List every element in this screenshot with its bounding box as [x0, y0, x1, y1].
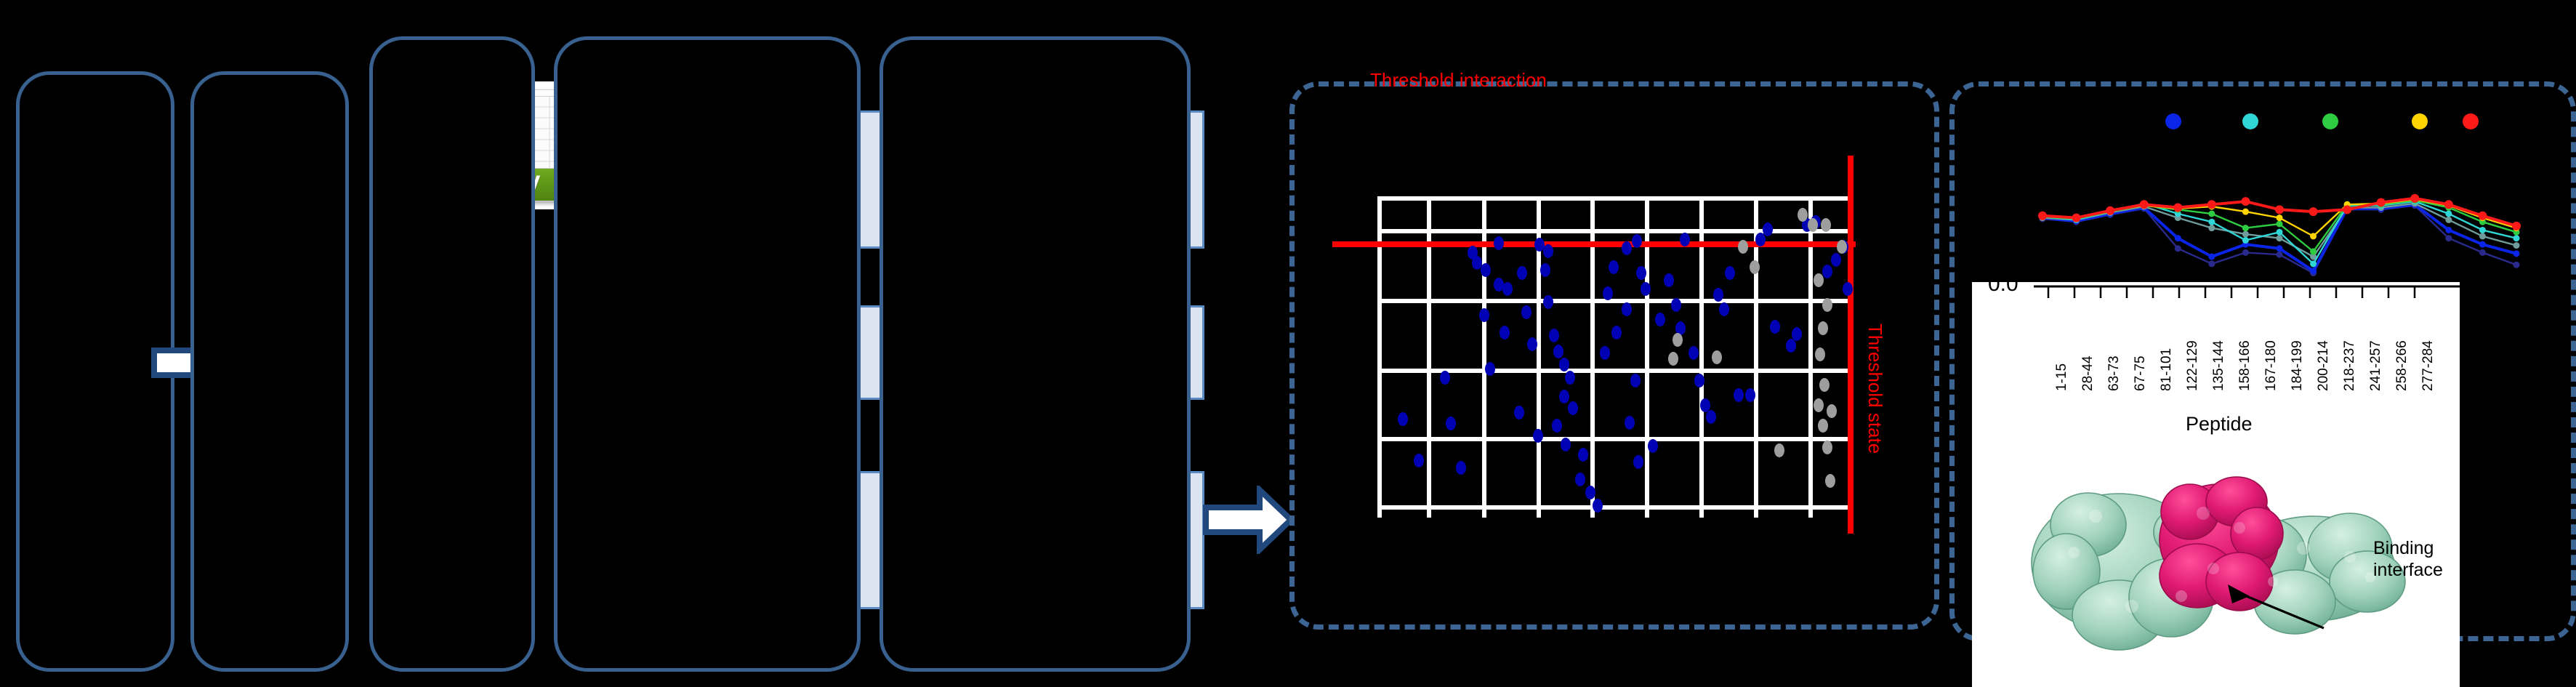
scatter-point-ns — [1827, 404, 1837, 418]
line-marker — [2513, 250, 2520, 257]
scatter-point — [1561, 438, 1571, 451]
line-marker — [2038, 212, 2047, 220]
statistical-analysis-stage[interactable] — [369, 36, 535, 672]
structural-mapping-stage[interactable] — [880, 36, 1191, 672]
x-tick-label: 241-257 — [2368, 340, 2384, 391]
legend-dot-yellow — [2412, 113, 2428, 129]
x-tick-label: 218-237 — [2342, 340, 2358, 391]
protein-structure-image — [2010, 446, 2417, 664]
line-marker — [2310, 268, 2317, 274]
binding-interface-line1: Binding — [2373, 538, 2443, 560]
grid-h-3 — [1377, 299, 1853, 303]
scatter-point — [1527, 337, 1537, 351]
scatter-point — [1770, 320, 1780, 334]
scatter-point-ns — [1821, 218, 1831, 232]
line-marker — [2208, 219, 2215, 225]
scatter-point — [1568, 401, 1578, 415]
scatter-point-ns — [1837, 240, 1847, 254]
legend-dot-green — [2322, 113, 2338, 129]
line-marker — [2207, 200, 2216, 209]
line-marker — [2310, 260, 2317, 267]
scatter-point — [1843, 282, 1853, 296]
scatter-point-ns — [1814, 273, 1824, 287]
line-marker — [2444, 200, 2453, 209]
scatter-point — [1494, 236, 1504, 250]
scatter-point — [1446, 417, 1456, 430]
line-marker — [2512, 222, 2521, 230]
binding-interface-line2: interface — [2373, 560, 2443, 582]
scatter-point — [1689, 346, 1699, 360]
x-axis-title: Peptide — [2186, 413, 2253, 435]
x-tick-label: 258-266 — [2394, 340, 2410, 391]
x-tick-label: 122-129 — [2185, 340, 2201, 391]
scatter-point-ns — [1808, 218, 1818, 232]
x-tick-label: 158-166 — [2237, 340, 2253, 391]
scatter-point — [1734, 388, 1744, 402]
grid-h-5 — [1377, 437, 1853, 441]
scatter-point — [1500, 326, 1510, 340]
scatter-point — [1648, 439, 1658, 453]
scatter-point — [1517, 266, 1527, 280]
scatter-point — [1533, 429, 1543, 443]
x-tick-label: 81-101 — [2159, 348, 2175, 391]
scatter-point-ns — [1712, 350, 1722, 364]
scatter-point — [1763, 222, 1773, 236]
line-marker — [2242, 237, 2249, 244]
scatter-point — [1600, 346, 1610, 360]
line-marker — [2175, 235, 2181, 241]
line-marker — [2277, 221, 2283, 228]
line-marker — [2513, 235, 2520, 241]
scatter-point — [1655, 313, 1665, 326]
scatter-point-ns — [1825, 474, 1835, 488]
x-tick-label: 277-284 — [2420, 340, 2436, 391]
scatter-point — [1543, 244, 1553, 258]
scatter-point — [1609, 260, 1619, 274]
line-marker — [2277, 235, 2283, 241]
scatter-point — [1611, 326, 1622, 340]
scatter-point — [1540, 263, 1550, 277]
scatter-point — [1543, 295, 1553, 309]
line-marker — [2277, 252, 2283, 258]
grid-h-2 — [1377, 229, 1853, 233]
line-marker — [2208, 254, 2215, 260]
scatter-point — [1725, 266, 1735, 280]
line-marker — [2309, 207, 2318, 216]
scatter-point — [1625, 416, 1635, 430]
line-marker — [2479, 249, 2486, 256]
scatter-point — [1398, 412, 1408, 426]
line-marker — [2242, 225, 2249, 231]
csv-file-stage[interactable] — [190, 71, 349, 672]
line-marker — [2208, 210, 2215, 217]
line-marker — [2175, 245, 2181, 252]
scatter-point — [1622, 302, 1632, 316]
line-marker — [2310, 233, 2317, 239]
scatter-point-ns — [1814, 398, 1824, 412]
flowchart-canvas: X CSV Fit a linear mixed- effects model … — [0, 0, 2576, 687]
scatter-point — [1713, 288, 1723, 302]
scatter-point — [1502, 282, 1513, 296]
scatter-point — [1479, 308, 1489, 322]
scatter-point — [1632, 234, 1642, 248]
scatter-point — [1831, 253, 1841, 267]
scatter-point-ns — [1668, 352, 1678, 366]
threshold-interaction-label: Threshold interaction — [1370, 69, 1547, 92]
scatter-point — [1585, 486, 1595, 499]
scatter-point-ns — [1750, 260, 1760, 274]
scatter-point — [1664, 273, 1674, 287]
x-tick-label: 28-44 — [2080, 355, 2096, 391]
line-marker — [2208, 260, 2215, 267]
legend-dot-red — [2463, 113, 2479, 129]
scatter-point — [1792, 327, 1802, 341]
scatter-point — [1481, 263, 1491, 277]
scatter-point — [1680, 233, 1690, 246]
line-marker — [2479, 241, 2486, 248]
interaction-results-stage[interactable] — [554, 36, 861, 672]
line-marker — [2072, 214, 2081, 222]
scatter-point-ns — [1673, 333, 1683, 347]
scatter-point — [1636, 266, 1646, 280]
peptide-coverage-line-chart — [2028, 174, 2529, 284]
line-marker — [2140, 200, 2149, 209]
scatter-point — [1521, 305, 1531, 319]
scatter-point — [1514, 406, 1524, 419]
line-marker — [2513, 262, 2520, 268]
scatter-point — [1822, 265, 1832, 278]
scatter-point — [1622, 241, 1632, 255]
x-tick-label: 135-144 — [2211, 340, 2227, 391]
binding-interface-annotation: Binding interface — [2373, 538, 2443, 581]
interaction-scatter-plot — [1377, 196, 1853, 518]
line-marker — [2445, 235, 2452, 241]
x-tick-label: 200-214 — [2316, 340, 2332, 391]
scatter-point — [1633, 455, 1643, 469]
x-tick-label: 167-180 — [2263, 340, 2279, 391]
line-marker — [2208, 225, 2215, 231]
x-tick-label: 1-15 — [2054, 363, 2070, 391]
scatter-point-ns — [1818, 419, 1828, 433]
threshold-state-line — [1848, 156, 1853, 534]
legend-dot-cyan — [2242, 113, 2258, 129]
line-marker — [2343, 205, 2351, 214]
scatter-point — [1565, 371, 1575, 385]
scatter-point — [1485, 362, 1495, 376]
scatter-point — [1706, 410, 1716, 424]
line-marker — [2173, 204, 2182, 212]
line-marker — [2377, 198, 2386, 206]
line-marker — [2275, 205, 2284, 214]
scatter-point — [1440, 371, 1450, 385]
scatter-point-ns — [1815, 347, 1825, 361]
line-marker — [2479, 233, 2486, 239]
line-marker — [2106, 206, 2114, 215]
threshold-state-label: Threshold state — [1864, 324, 1886, 454]
scatter-point-ns — [1818, 321, 1828, 335]
scatter-point-ns — [1738, 240, 1748, 254]
scatter-point-ns — [1822, 298, 1832, 312]
scatter-point — [1578, 448, 1588, 462]
line-marker — [2478, 212, 2487, 220]
structure-figure-panel: 0.0 1-1528-4463-7367-7581-101122-129135-… — [1972, 282, 2460, 687]
line-marker — [2277, 214, 2283, 221]
line-marker — [2513, 242, 2520, 249]
line-marker — [2445, 210, 2452, 217]
scatter-point — [1456, 461, 1466, 475]
scatter-point-ns — [1774, 443, 1784, 457]
grid-h-6 — [1377, 505, 1853, 510]
x-tick-label: 184-199 — [2290, 340, 2306, 391]
scatter-point — [1786, 339, 1796, 353]
line-marker — [2242, 249, 2249, 256]
line-marker — [2445, 217, 2452, 223]
line-marker — [2277, 229, 2283, 236]
grid-h-1 — [1377, 196, 1853, 201]
scatter-point — [1552, 419, 1562, 433]
scatter-point — [1553, 345, 1563, 358]
scatter-point — [1745, 388, 1755, 402]
line-marker — [2479, 227, 2486, 233]
scatter-point — [1641, 282, 1651, 296]
scatter-point — [1559, 358, 1569, 371]
legend-dot-blue — [2165, 113, 2181, 129]
scatter-point — [1575, 473, 1585, 486]
line-marker — [2277, 245, 2283, 252]
line-marker — [2310, 249, 2317, 255]
x-tick-label: 67-75 — [2133, 355, 2149, 391]
scatter-point — [1671, 298, 1681, 312]
scatter-point — [1694, 374, 1704, 387]
line-marker — [2241, 197, 2250, 206]
line-marker — [2445, 227, 2452, 233]
arrow-to-results — [1203, 486, 1295, 554]
threshold-interaction-line — [1332, 241, 1856, 247]
scatter-point — [1593, 499, 1603, 513]
scatter-point — [1630, 374, 1641, 387]
scatter-point — [1719, 302, 1729, 316]
scatter-point-ns — [1798, 208, 1808, 222]
grid-h-4 — [1377, 369, 1853, 373]
y-axis-tick-label: 0.0 — [1988, 282, 2018, 297]
scatter-point — [1603, 286, 1613, 300]
line-marker — [2410, 194, 2419, 203]
scatter-point-ns — [1819, 378, 1830, 392]
scatter-point — [1549, 329, 1559, 342]
line-marker — [2242, 209, 2249, 215]
scatter-point — [1559, 390, 1569, 403]
x-tick-label: 63-73 — [2106, 355, 2122, 391]
line-marker — [2242, 231, 2249, 238]
scatter-point — [1414, 454, 1424, 467]
scatter-point-ns — [1822, 441, 1832, 454]
